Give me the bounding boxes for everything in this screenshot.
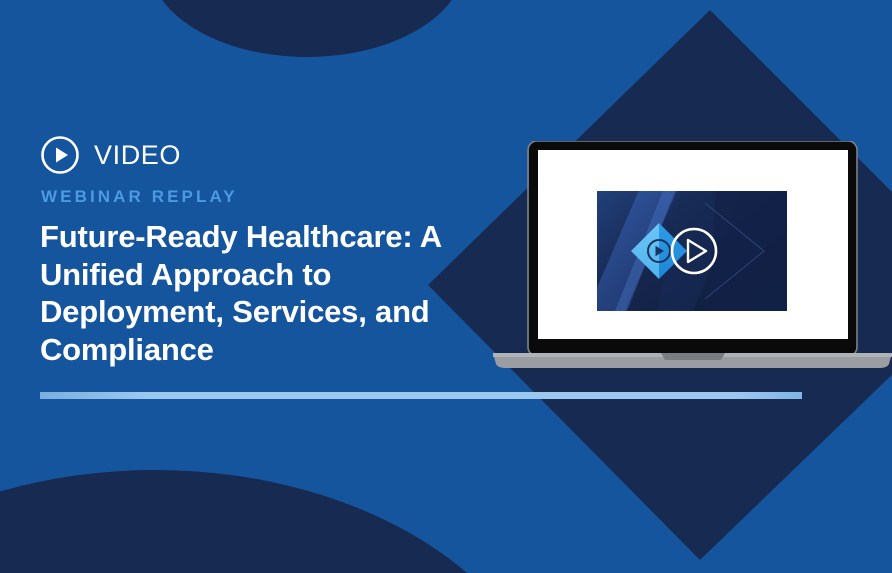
page-title: Future-Ready Healthcare: A Unified Appro… bbox=[40, 218, 470, 368]
eyebrow-label: VIDEO bbox=[94, 142, 181, 169]
kicker-label: WEBINAR REPLAY bbox=[41, 188, 238, 205]
text-content: VIDEO WEBINAR REPLAY Future-Ready Health… bbox=[40, 0, 510, 573]
play-circle-icon[interactable] bbox=[40, 135, 80, 175]
eyebrow: VIDEO bbox=[40, 135, 181, 175]
promo-card: VIDEO WEBINAR REPLAY Future-Ready Health… bbox=[0, 0, 892, 573]
video-thumbnail[interactable] bbox=[597, 191, 787, 311]
laptop-notch bbox=[661, 353, 725, 360]
thumbnail-panel-dark bbox=[707, 191, 787, 311]
divider bbox=[40, 392, 802, 399]
